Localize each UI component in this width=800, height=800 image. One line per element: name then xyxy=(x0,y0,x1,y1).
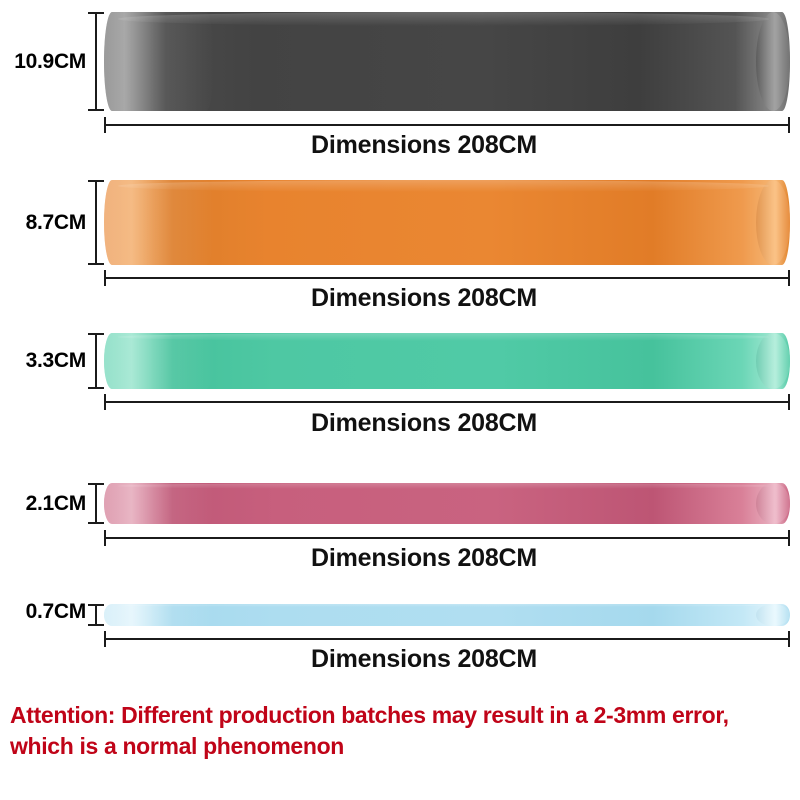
pink-band-height-line xyxy=(95,483,97,524)
black-band-height-label: 10.9CM xyxy=(0,50,86,74)
green-band-length-line xyxy=(104,401,790,403)
blue-band-height-line xyxy=(95,604,97,626)
green-band-height-label: 3.3CM xyxy=(0,349,86,373)
band-group-pink: 2.1CM Dimensions 208CM xyxy=(0,465,800,600)
dimension-diagram: 10.9CM Dimensions 208CM 8.7CM Dimensions… xyxy=(0,0,800,800)
blue-band-surface xyxy=(104,604,790,626)
black-band-height-line xyxy=(95,12,97,111)
orange-band-length-label: Dimensions 208CM xyxy=(311,284,537,313)
band-group-blue: 0.7CM Dimensions 208CM xyxy=(0,600,800,700)
green-band xyxy=(104,333,790,389)
attention-note: Attention: Different production batches … xyxy=(10,700,792,762)
blue-band-length-line xyxy=(104,638,790,640)
green-band-length-label: Dimensions 208CM xyxy=(311,409,537,438)
pink-band-height-label: 2.1CM xyxy=(0,492,86,516)
black-band-length-line xyxy=(104,124,790,126)
orange-band xyxy=(104,180,790,265)
orange-band-surface xyxy=(104,180,790,265)
blue-band xyxy=(104,604,790,626)
black-band-length-label: Dimensions 208CM xyxy=(311,131,537,160)
green-band-height-line xyxy=(95,333,97,389)
blue-band-height-label: 0.7CM xyxy=(0,600,86,624)
green-band-surface xyxy=(104,333,790,389)
band-group-black: 10.9CM Dimensions 208CM xyxy=(0,0,800,160)
pink-band xyxy=(104,483,790,524)
orange-band-height-line xyxy=(95,180,97,265)
orange-band-length-line xyxy=(104,277,790,279)
pink-band-length-line xyxy=(104,537,790,539)
black-band-surface xyxy=(104,12,790,111)
band-group-orange: 8.7CM Dimensions 208CM xyxy=(0,160,800,315)
band-group-green: 3.3CM Dimensions 208CM xyxy=(0,315,800,465)
pink-band-surface xyxy=(104,483,790,524)
pink-band-length-label: Dimensions 208CM xyxy=(311,544,537,573)
black-band xyxy=(104,12,790,111)
blue-band-length-label: Dimensions 208CM xyxy=(311,645,537,674)
orange-band-height-label: 8.7CM xyxy=(0,211,86,235)
